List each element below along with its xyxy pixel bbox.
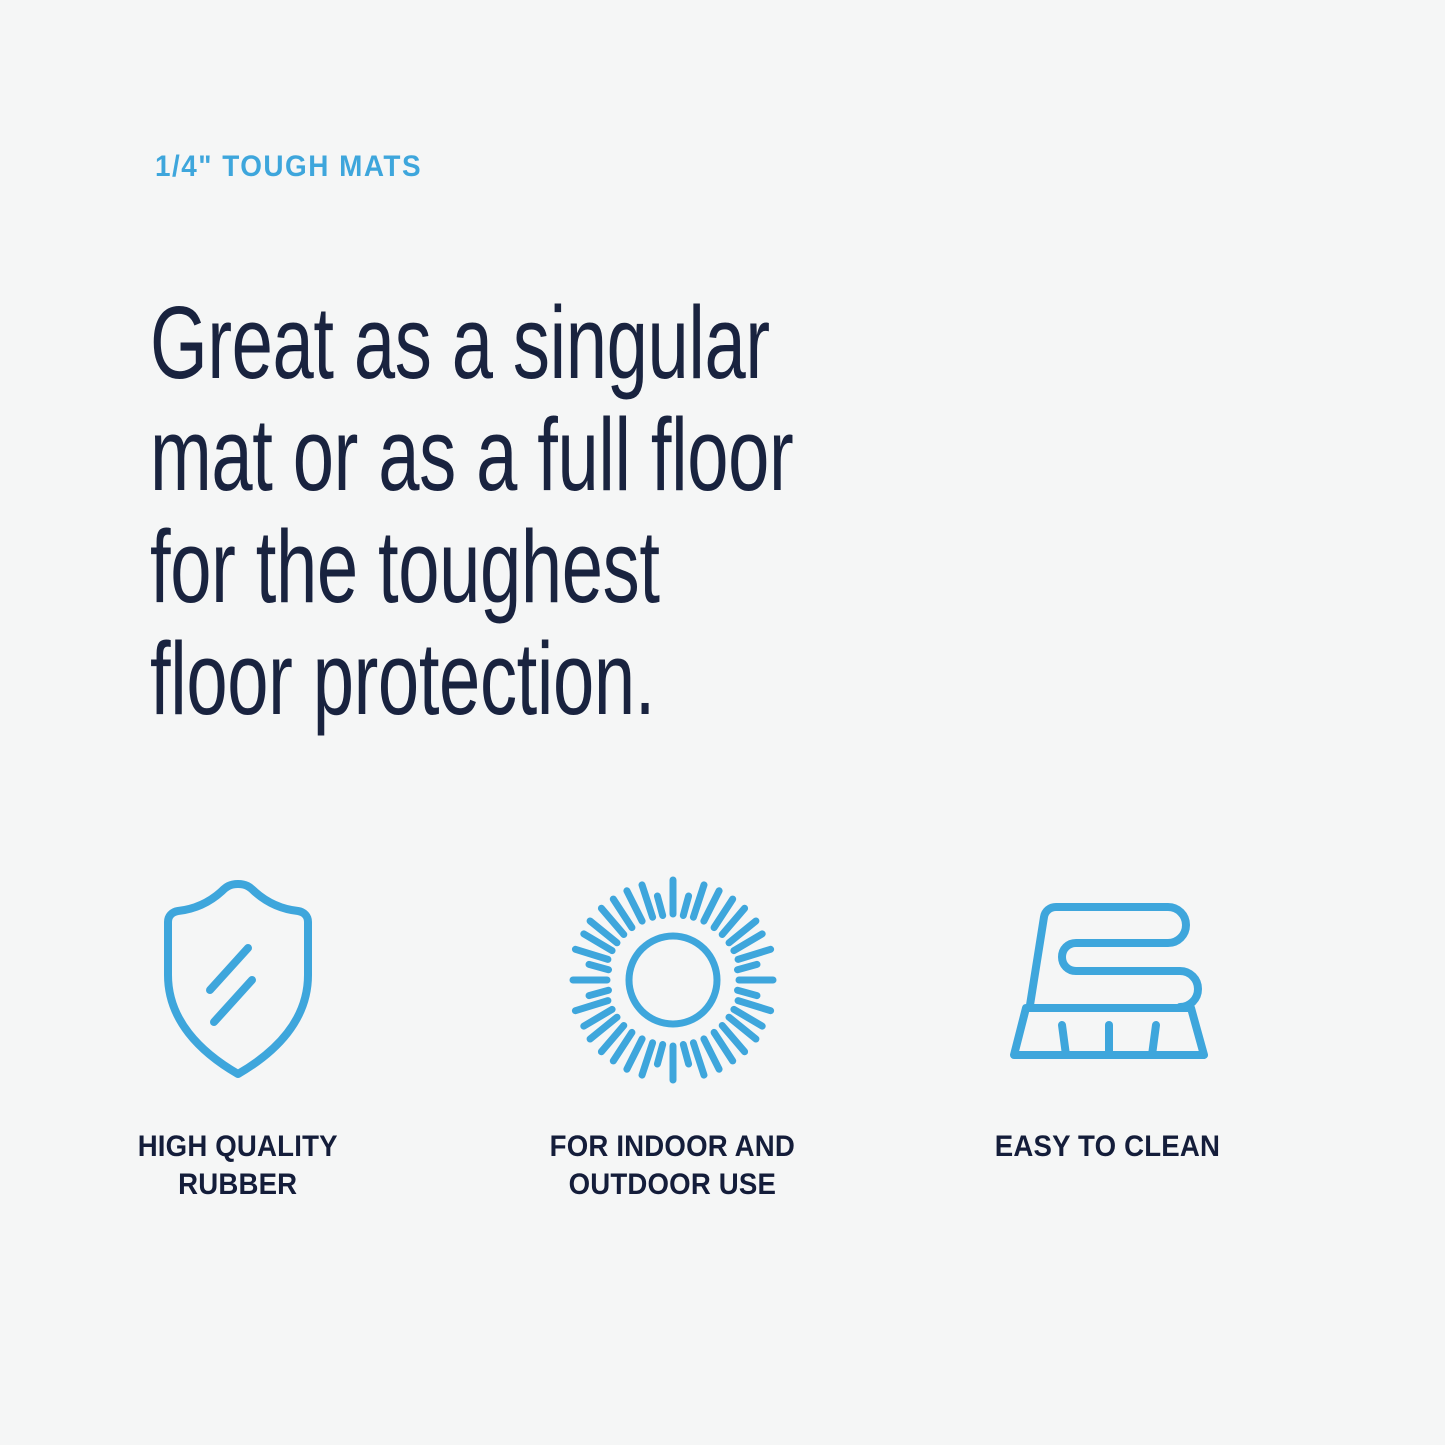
feature-item-indoor-outdoor-use: FOR INDOOR AND OUTDOOR USE: [455, 860, 890, 1204]
headline-line-4: floor protection.: [150, 623, 870, 735]
feature-item-high-quality-rubber: HIGH QUALITY RUBBER: [20, 860, 455, 1204]
feature-list: HIGH QUALITY RUBBER: [0, 860, 1445, 1204]
shield-icon-container: [148, 860, 328, 1100]
feature-label-line-2: RUBBER: [137, 1166, 337, 1204]
headline-line-1: Great as a singular: [150, 287, 870, 399]
feature-label-indoor-outdoor-use: FOR INDOOR AND OUTDOOR USE: [539, 1128, 806, 1204]
feature-label-easy-to-clean: EASY TO CLEAN: [985, 1128, 1230, 1166]
headline-line-3: for the toughest: [150, 511, 870, 623]
scrub-brush-icon-container: [1008, 860, 1208, 1100]
sun-icon: [563, 870, 783, 1090]
scrub-brush-icon: [1008, 895, 1208, 1065]
page-title: Great as a singular mat or as a full flo…: [150, 287, 1150, 735]
sun-icon-container: [563, 860, 783, 1100]
shield-icon: [148, 880, 328, 1080]
feature-label-line-1: HIGH QUALITY: [137, 1128, 337, 1166]
feature-item-easy-to-clean: EASY TO CLEAN: [890, 860, 1325, 1166]
eyebrow-label: 1/4" TOUGH MATS: [155, 150, 422, 184]
feature-label-line-1: EASY TO CLEAN: [995, 1128, 1220, 1166]
feature-label-high-quality-rubber: HIGH QUALITY RUBBER: [129, 1128, 346, 1204]
feature-label-line-1: FOR INDOOR AND: [550, 1128, 795, 1166]
feature-label-line-2: OUTDOOR USE: [550, 1166, 795, 1204]
product-feature-panel: 1/4" TOUGH MATS Great as a singular mat …: [0, 0, 1445, 1445]
headline-line-2: mat or as a full floor: [150, 399, 870, 511]
